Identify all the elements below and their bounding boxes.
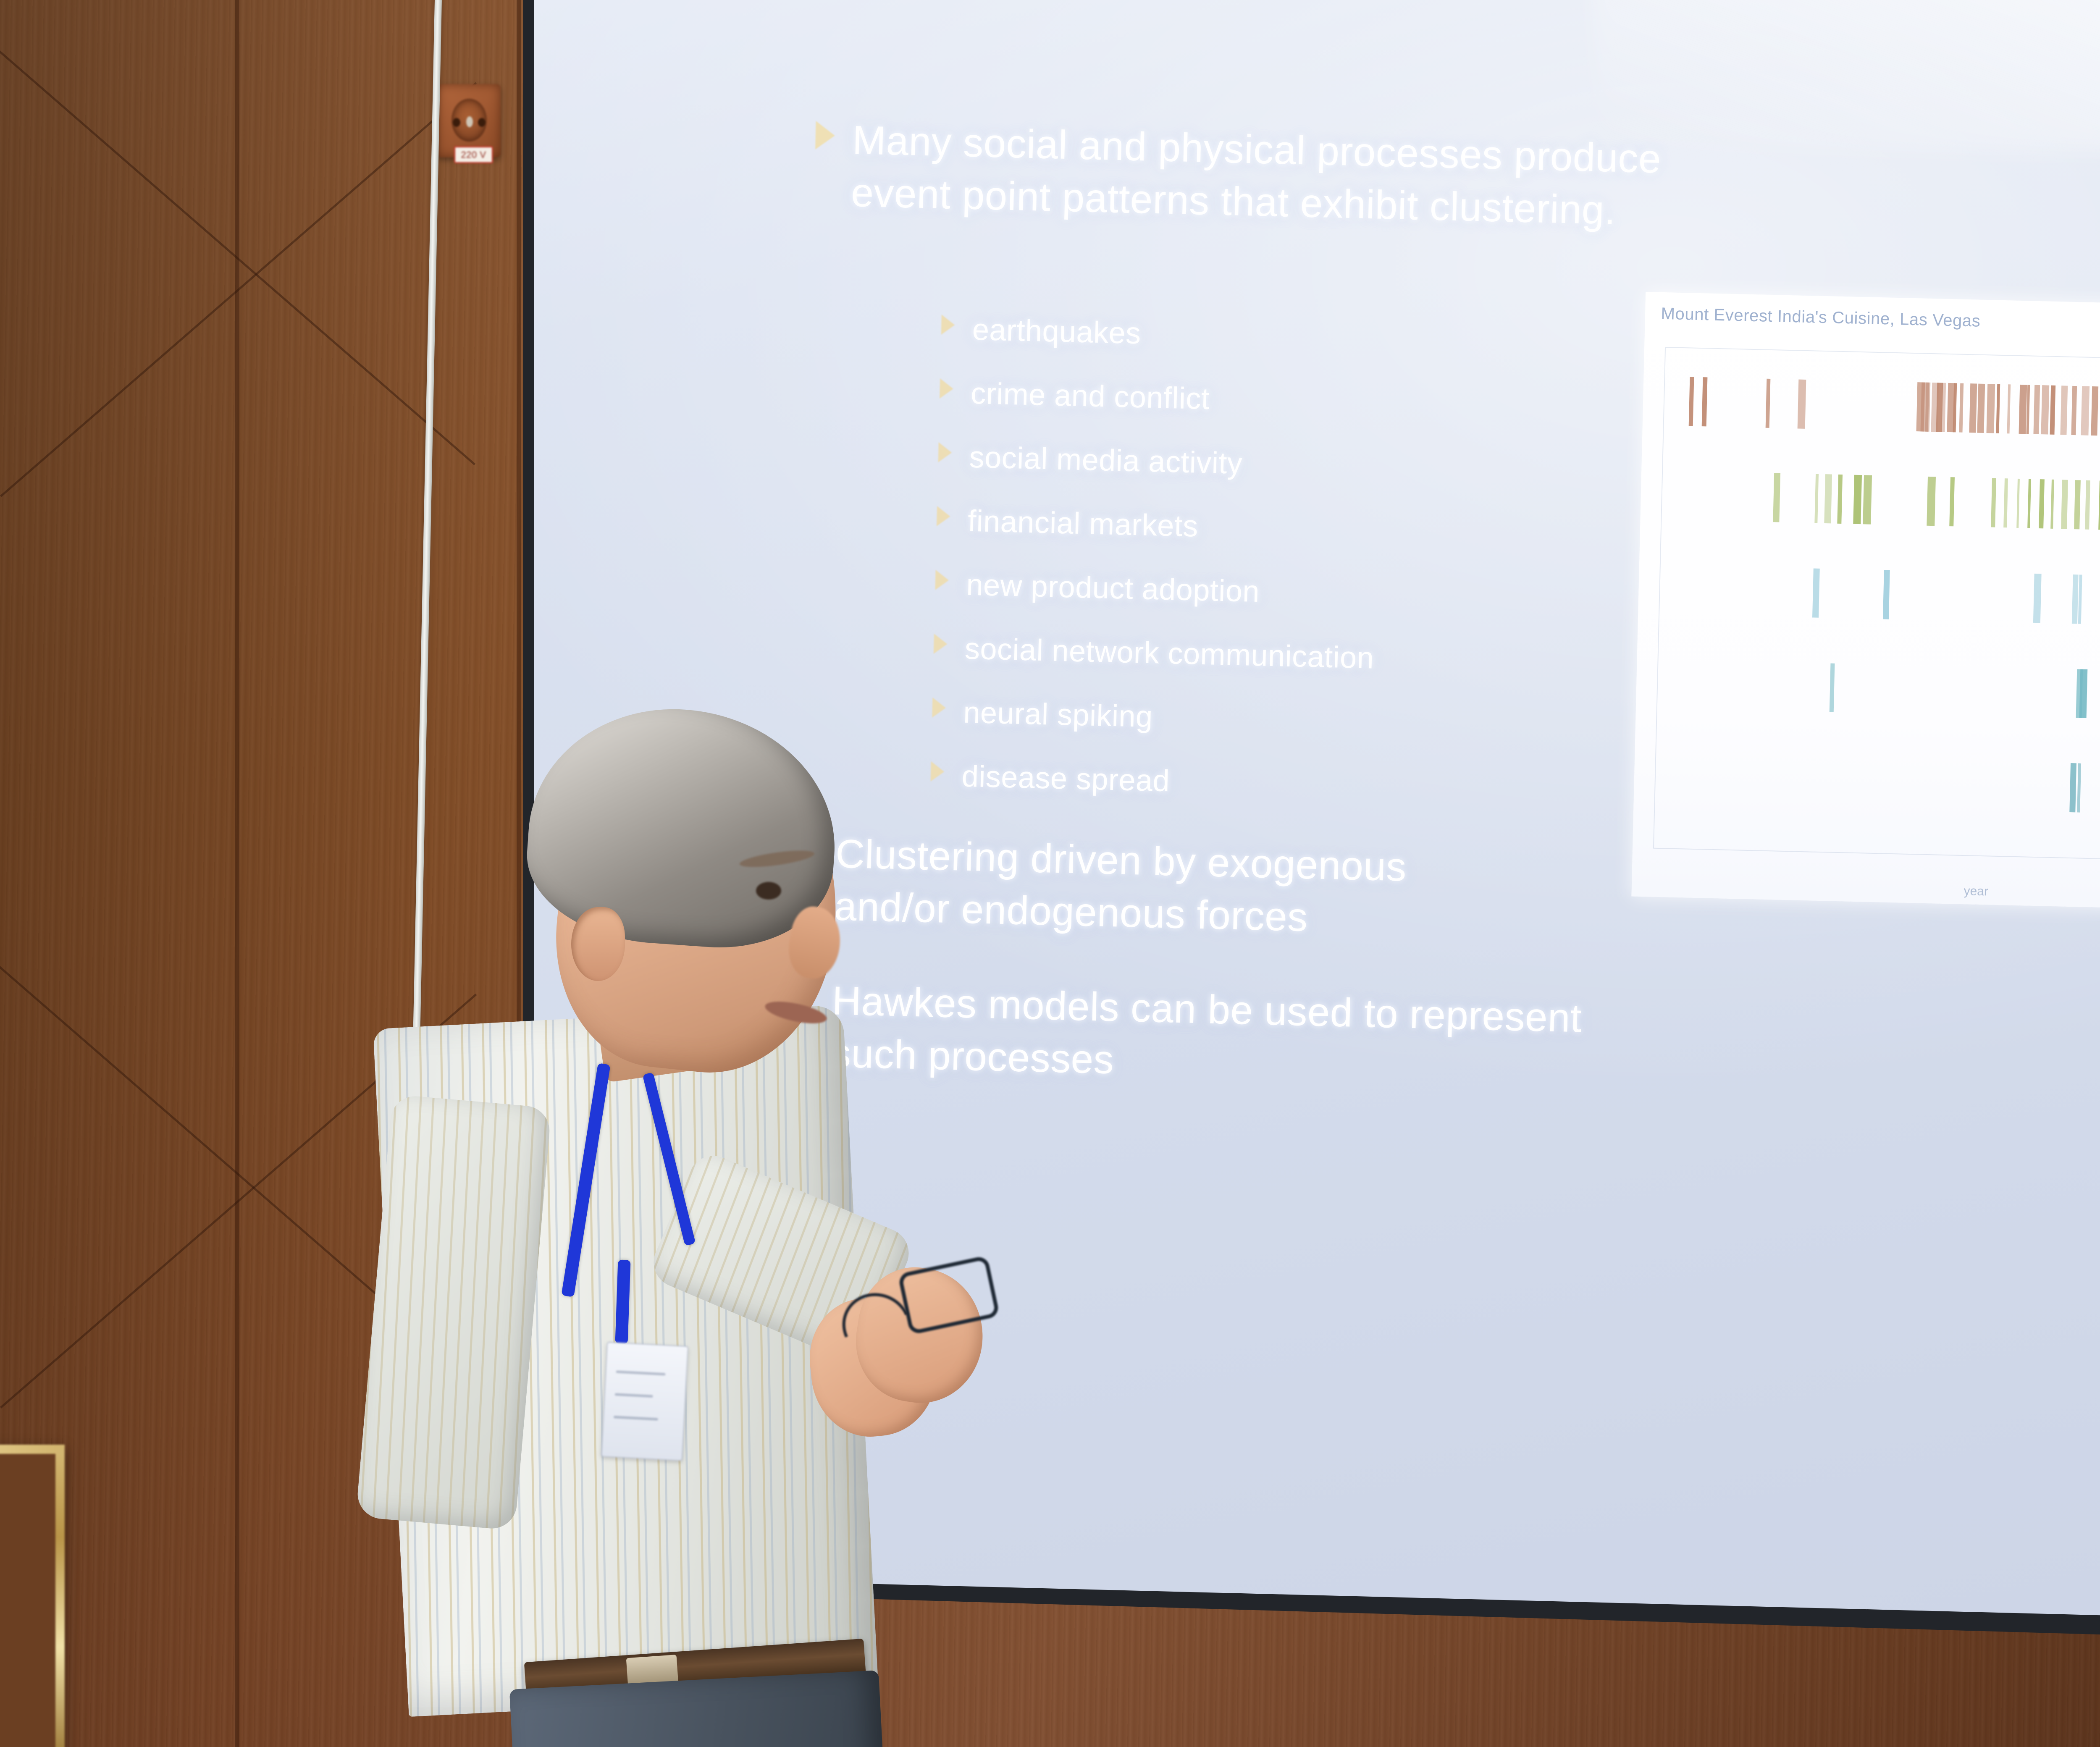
embedded-figure: Mount Everest India's Cuisine, Las Vegas… (1631, 292, 2100, 913)
raster-tick (2081, 386, 2089, 435)
raster-tick (1953, 383, 1957, 432)
raster-tick (1766, 378, 1770, 428)
raster-tick (1996, 384, 2000, 433)
raster-tick (2050, 480, 2054, 529)
bullet-text: social media activity (969, 438, 1243, 484)
raster-row (1659, 565, 2100, 629)
raster-tick (2074, 480, 2081, 529)
raster-row (1656, 659, 2100, 723)
raster-tick (2007, 384, 2011, 433)
raster-tick (1830, 663, 1835, 712)
wall-outlet-left: 220 V (438, 84, 501, 157)
bullet-text: Many social and physical processes produ… (850, 114, 1662, 238)
outlet-pin (478, 118, 486, 127)
bullet-triangle-icon (941, 315, 955, 335)
raster-tick (1883, 570, 1890, 619)
raster-tick (1925, 382, 1931, 431)
raster-tick (2033, 574, 2041, 623)
raster-tick (1853, 475, 1862, 524)
raster-tick (1812, 569, 1820, 618)
raster-tick (1701, 377, 1707, 426)
raster-tick (1927, 477, 1935, 526)
bullet-triangle-icon (935, 570, 949, 590)
raster-tick (2027, 479, 2031, 528)
raster-tick (2072, 574, 2079, 624)
raster-tick (2069, 763, 2076, 812)
raster-row (1663, 376, 2100, 441)
raster-tick (1991, 478, 1996, 527)
raster-tick (2026, 385, 2030, 434)
presenter-hair (521, 699, 843, 955)
bullet-text: financial markets (967, 502, 1199, 546)
raster-tick (2019, 385, 2027, 434)
bullet-triangle-icon (940, 378, 953, 399)
raster-tick (2091, 386, 2098, 435)
raster-tick (1837, 475, 1843, 524)
presenter-eye (756, 882, 781, 900)
outlet-voltage-label: 220 V (454, 146, 493, 163)
raster-tick (2098, 481, 2100, 530)
raster-tick (2003, 479, 2008, 528)
badge-text-line (614, 1416, 659, 1421)
raster-tick (1941, 383, 1946, 432)
raster-tick (2077, 763, 2081, 813)
bullet-triangle-icon (934, 634, 948, 654)
raster-tick (2033, 385, 2040, 434)
raster-tick (2060, 386, 2068, 435)
raster-tick (1959, 383, 1963, 432)
raster-tick (2079, 669, 2087, 718)
bullet-text: crime and conflict (970, 374, 1210, 419)
raster-tick (1863, 475, 1872, 525)
presenter (344, 672, 1142, 1747)
bullet-text: new product adoption (966, 566, 1260, 612)
raster-tick (1798, 379, 1806, 428)
outlet-pin (453, 118, 460, 127)
raster-tick (2071, 386, 2077, 435)
slide-bullet: Many social and physical processes produ… (814, 113, 2100, 250)
presenter-ear (571, 907, 625, 981)
raster-tick (1977, 383, 1985, 433)
badge-text-line (614, 1393, 653, 1398)
raster-row (1661, 470, 2100, 535)
raster-tick (1689, 377, 1694, 426)
badge-text-line (616, 1370, 665, 1375)
picture-frame (0, 1445, 65, 1747)
raster-tick (1773, 473, 1780, 522)
raster-tick (2016, 479, 2020, 528)
raster-tick (2085, 480, 2090, 530)
bullet-triangle-icon (937, 506, 950, 527)
raster-row (1654, 753, 2100, 818)
bullet-triangle-icon (815, 121, 835, 150)
figure-raster-plot (1654, 365, 2100, 852)
wall-panel-seam (235, 0, 239, 1747)
raster-tick (1815, 474, 1819, 523)
bullet-text: earthquakes (972, 310, 1142, 354)
raster-tick (1969, 383, 1977, 433)
raster-tick (2039, 480, 2044, 529)
outlet-screw (466, 116, 473, 127)
bullet-text: social network communication (964, 630, 1374, 679)
bullet-triangle-icon (938, 442, 952, 463)
raster-tick (2041, 385, 2049, 434)
raster-tick (2061, 480, 2068, 529)
photo-scene: 220 V Many social and physical processes… (0, 0, 2100, 1747)
raster-tick (1824, 474, 1832, 523)
figure-title: Mount Everest India's Cuisine, Las Vegas (1661, 304, 1981, 331)
raster-tick (2078, 574, 2082, 624)
presenter-badge (601, 1342, 688, 1461)
raster-tick (1987, 384, 1995, 433)
raster-tick (2050, 385, 2055, 434)
raster-tick (1949, 477, 1955, 526)
